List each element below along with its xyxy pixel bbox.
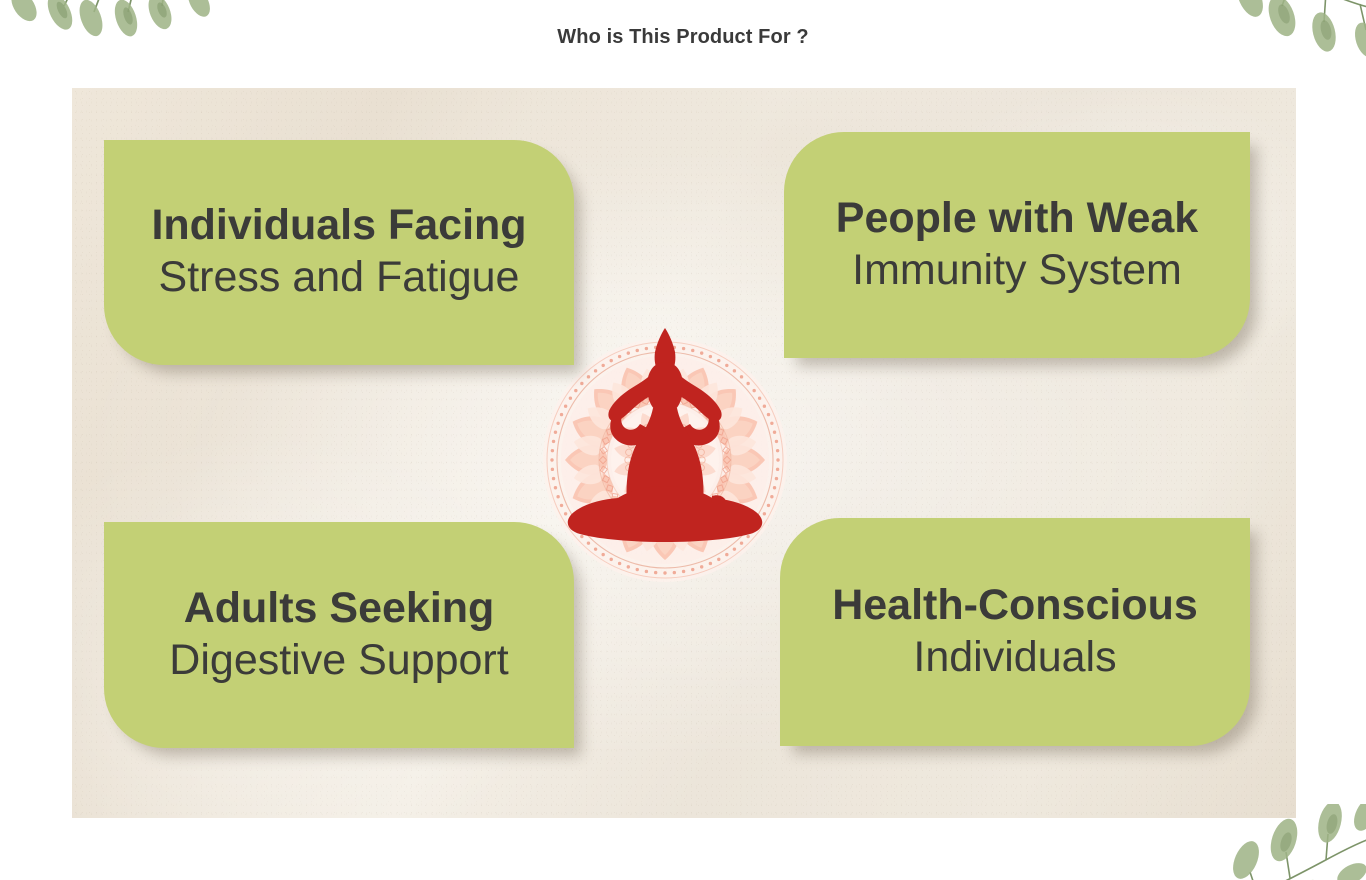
audience-card-subtitle: Digestive Support (169, 634, 508, 687)
audience-card-weak-immunity[interactable]: People with Weak Immunity System (784, 132, 1250, 358)
audience-card-title: Adults Seeking (184, 583, 495, 634)
audience-card-subtitle: Stress and Fatigue (159, 251, 520, 304)
audience-card-subtitle: Individuals (913, 631, 1116, 684)
infographic-canvas: Who is This Product For ? (0, 0, 1366, 880)
audience-card-title: Health-Conscious (832, 580, 1198, 631)
audience-card-title: People with Weak (836, 193, 1198, 244)
audience-card-subtitle: Immunity System (852, 244, 1182, 297)
center-graphic (540, 310, 790, 610)
audience-card-digestive-support[interactable]: Adults Seeking Digestive Support (104, 522, 574, 748)
audience-card-health-conscious[interactable]: Health-Conscious Individuals (780, 518, 1250, 746)
page-title: Who is This Product For ? (0, 26, 1366, 49)
audience-card-stress-fatigue[interactable]: Individuals Facing Stress and Fatigue (104, 140, 574, 365)
audience-card-title: Individuals Facing (151, 200, 526, 251)
